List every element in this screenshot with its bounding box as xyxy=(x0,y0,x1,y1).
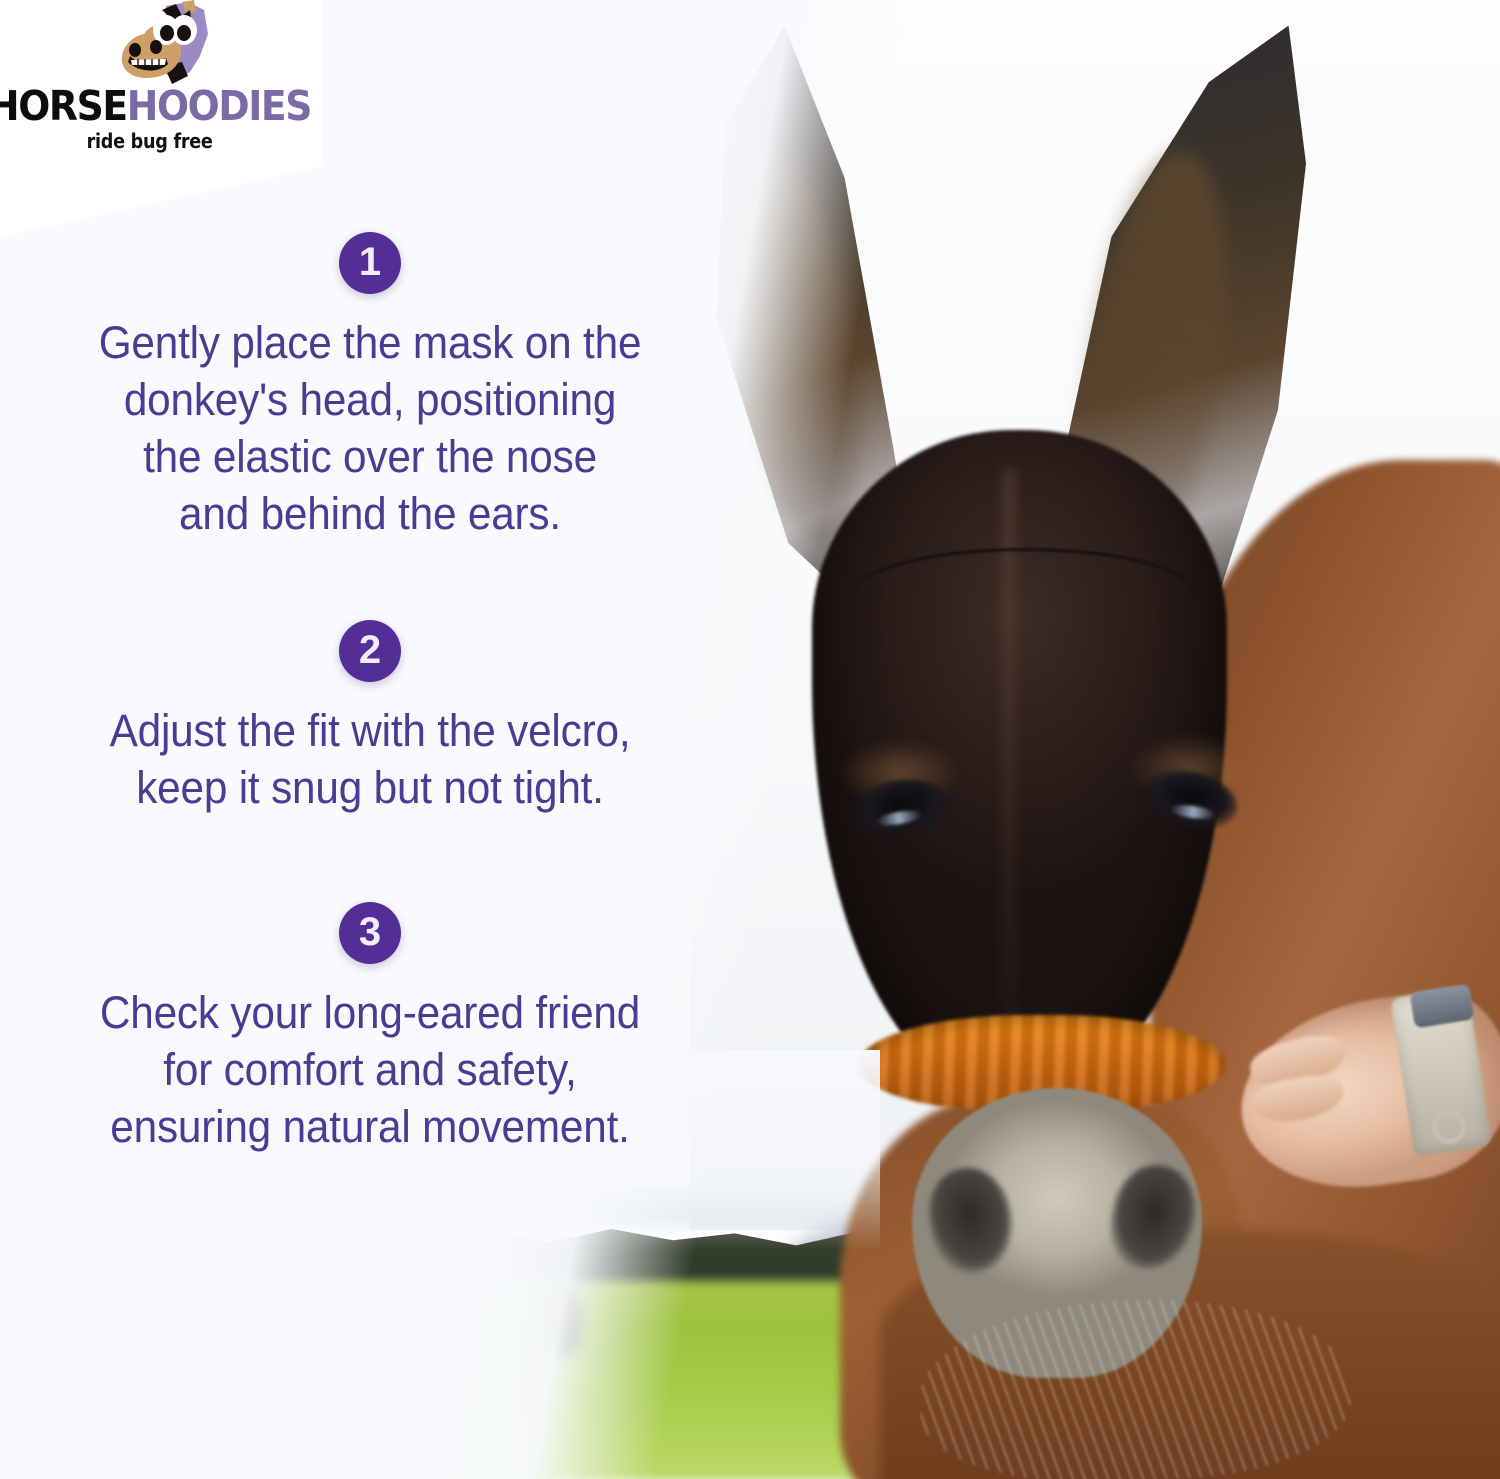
distant-animal xyxy=(120,1263,166,1315)
wordmark-hoodies: HOODIES xyxy=(127,82,311,130)
infographic-canvas: HORSEHOODIES ride bug free 1 Gently plac… xyxy=(0,0,1500,1479)
wordmark-horse: HORSE xyxy=(0,82,127,130)
distant-animal xyxy=(540,1285,580,1357)
hay-bale xyxy=(228,1267,326,1311)
step-text-2: Adjust the fit with the velcro, keep it … xyxy=(22,702,718,816)
brand-wordmark: HORSEHOODIES xyxy=(0,86,312,127)
step-number-badge-1: 1 xyxy=(339,232,401,294)
step-number-badge-2: 2 xyxy=(339,620,401,682)
instruction-step-1: 1 Gently place the mask on the donkey's … xyxy=(0,232,740,542)
step-text-1: Gently place the mask on the donkey's he… xyxy=(22,314,718,542)
step-text-3: Check your long-eared friend for comfort… xyxy=(22,984,718,1155)
brand-tagline: ride bug free xyxy=(87,129,213,153)
instruction-step-2: 2 Adjust the fit with the velcro, keep i… xyxy=(0,620,740,816)
horse-head-mascot-icon xyxy=(104,0,226,92)
step-number-badge-3: 3 xyxy=(339,902,401,964)
distant-animal xyxy=(0,1253,52,1311)
instruction-step-3: 3 Check your long-eared friend for comfo… xyxy=(0,902,740,1155)
